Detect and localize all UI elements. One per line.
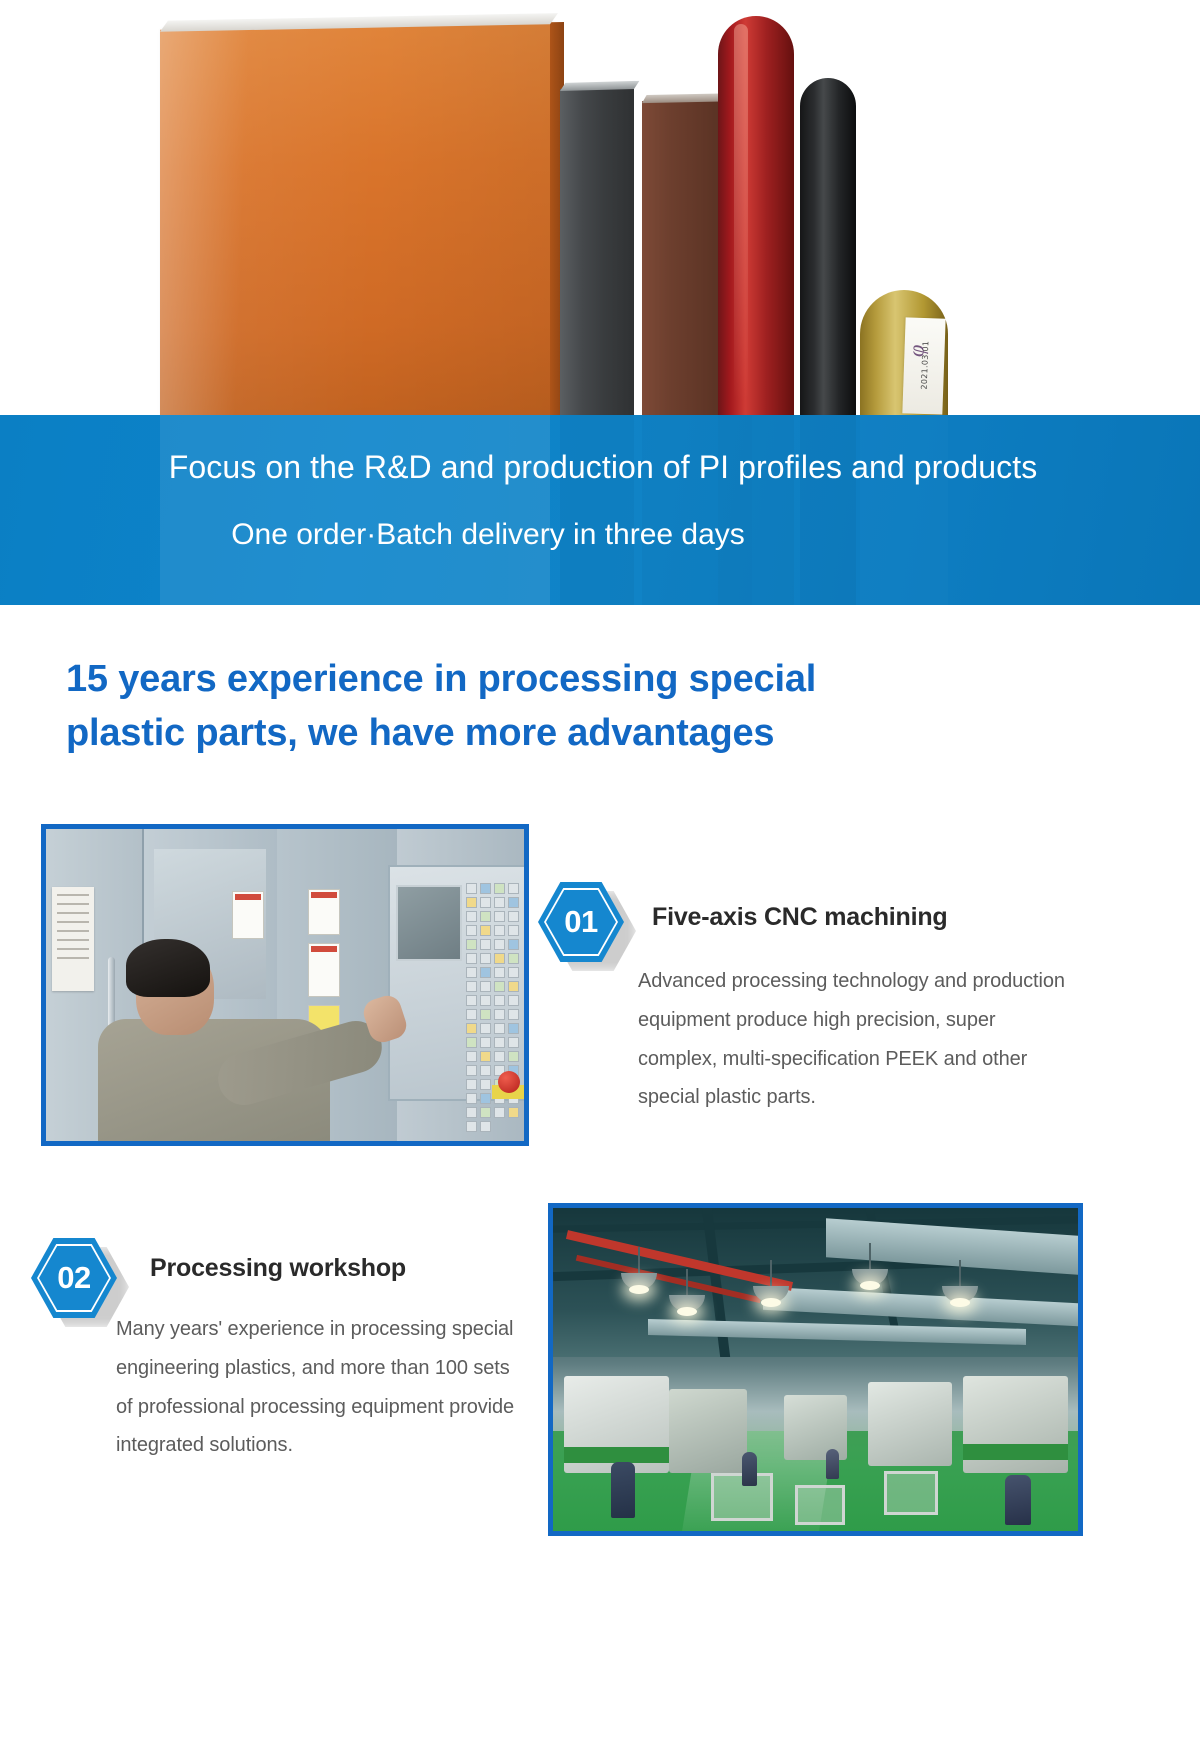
page-title-line-2: plastic parts, we have more advantages	[66, 707, 1076, 761]
cnc-machine-scene	[46, 829, 524, 1141]
hero-product-stage: 2021.03.01 φ	[0, 0, 1200, 418]
feature-02-image	[548, 1203, 1083, 1536]
banner-line-2: One order·Batch delivery in three days	[0, 518, 1200, 552]
workshop-scene	[553, 1208, 1078, 1531]
workshop-worker-2	[742, 1452, 757, 1486]
feature-01-badge: 01	[538, 882, 624, 962]
cnc-posted-document	[52, 887, 94, 991]
orange-phenolic-sheet	[160, 22, 550, 418]
workshop-worker-1	[611, 1462, 635, 1518]
cnc-operator	[98, 941, 368, 1141]
feature-02-number: 02	[31, 1238, 117, 1318]
material-cart-3	[795, 1485, 845, 1525]
cnc-control-panel	[388, 865, 529, 1101]
operator-hair	[126, 939, 210, 997]
page-title: 15 years experience in processing specia…	[66, 653, 1076, 761]
workshop-worker-4	[1005, 1475, 1031, 1525]
rod-label: 2021.03.01 φ	[902, 317, 945, 414]
workshop-worker-3	[826, 1449, 839, 1479]
machine-accent-2	[963, 1444, 1068, 1460]
feature-01-image	[41, 824, 529, 1146]
banner-text-block: Focus on the R&D and production of PI pr…	[0, 415, 1200, 552]
black-rod	[800, 78, 856, 418]
cnc-machine-3	[868, 1382, 952, 1466]
banner-line-1: Focus on the R&D and production of PI pr…	[0, 449, 1200, 486]
cnc-machine-5	[784, 1395, 847, 1460]
feature-02-body: Many years' experience in processing spe…	[116, 1310, 516, 1465]
cnc-warning-label-1	[232, 891, 264, 939]
machine-accent-1	[564, 1447, 669, 1463]
tagline-banner: Focus on the R&D and production of PI pr…	[0, 415, 1200, 605]
hero-product-image: 2021.03.01 φ	[0, 0, 1200, 418]
gold-rod: 2021.03.01 φ	[860, 290, 948, 418]
red-rod	[718, 16, 794, 418]
cnc-keypad	[464, 881, 529, 1031]
cnc-machine-2	[669, 1389, 748, 1473]
cnc-screen	[396, 885, 462, 961]
feature-01-title: Five-axis CNC machining	[652, 903, 947, 932]
cnc-warning-label-2	[308, 889, 340, 935]
feature-01-body: Advanced processing technology and produ…	[638, 962, 1070, 1117]
feature-02-badge: 02	[31, 1238, 117, 1318]
material-cart-2	[884, 1471, 938, 1515]
feature-01-number: 01	[538, 882, 624, 962]
page-title-line-1: 15 years experience in processing specia…	[66, 653, 1076, 707]
cnc-emergency-stop-button	[498, 1071, 520, 1093]
rod-label-scrawl: φ	[903, 344, 930, 358]
dark-grey-sheet	[560, 87, 634, 418]
feature-02-title: Processing workshop	[150, 1254, 406, 1283]
